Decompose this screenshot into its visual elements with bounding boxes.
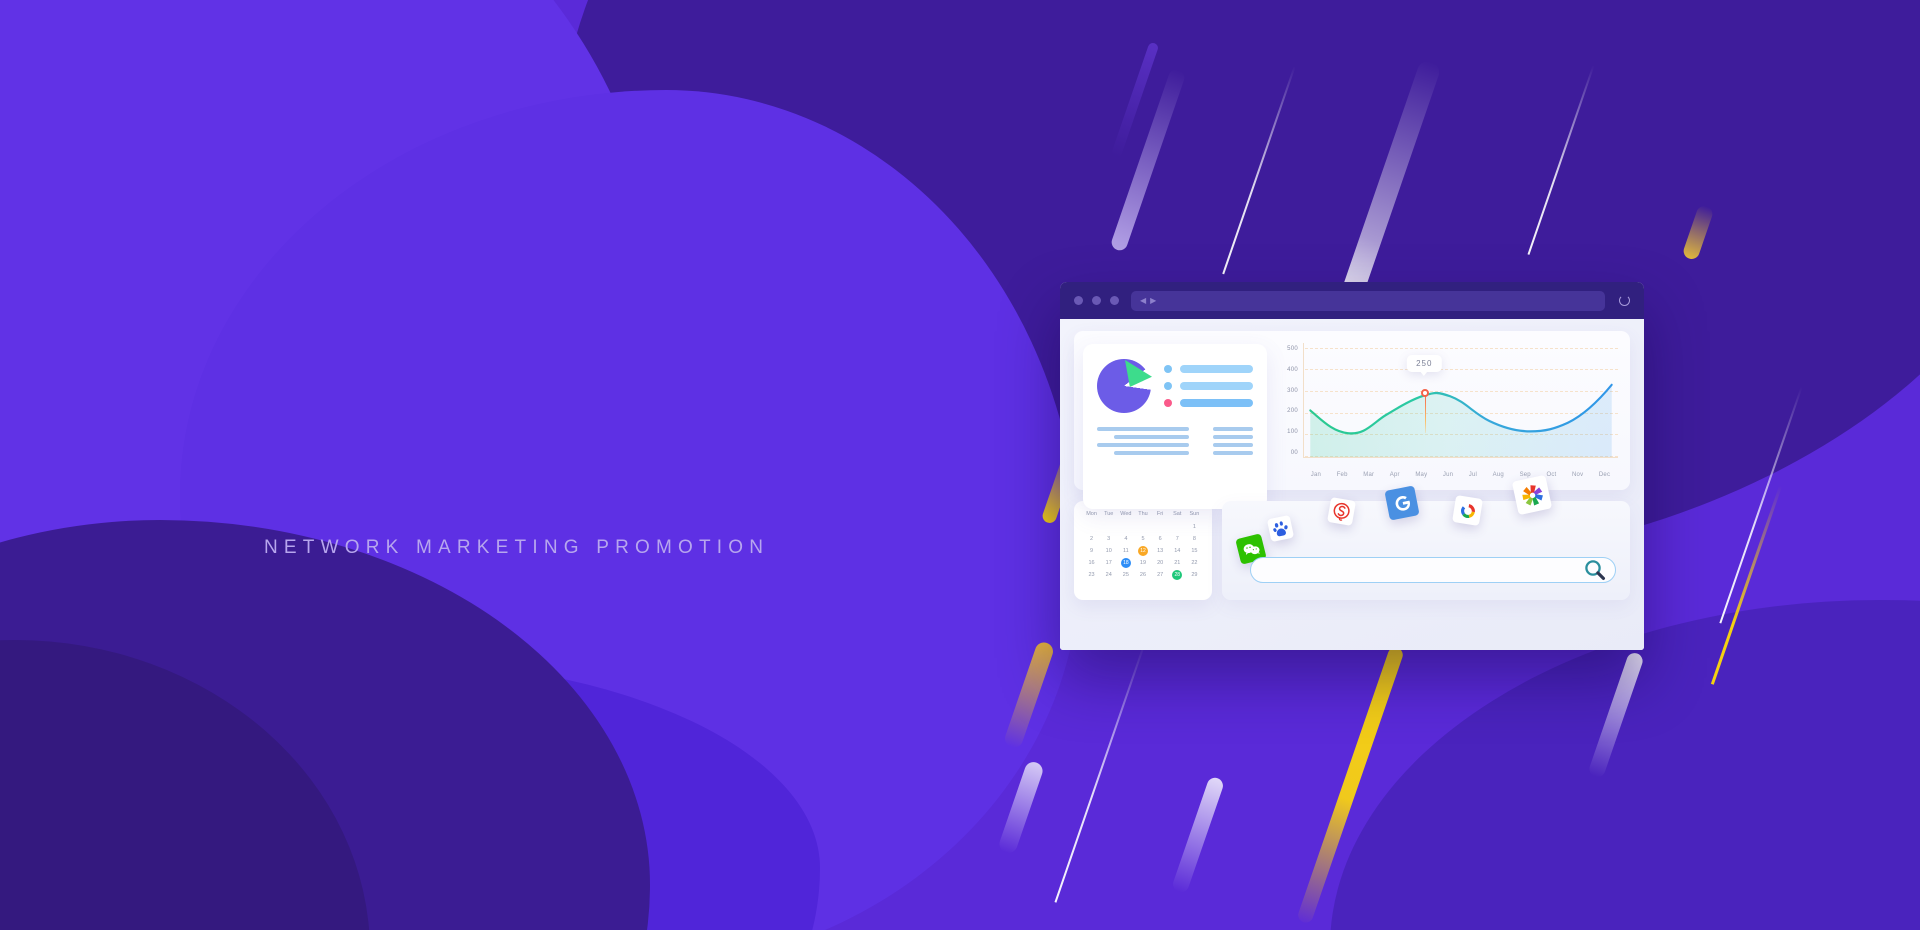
calendar-day[interactable]: 18 [1117, 558, 1134, 568]
reload-icon[interactable] [1619, 295, 1630, 306]
chart-plot [1303, 343, 1618, 458]
sogou-icon[interactable] [1327, 497, 1356, 526]
placeholder-bar [1213, 451, 1253, 455]
chart-marker-line [1425, 393, 1427, 433]
calendar-blank [1169, 522, 1186, 532]
x-tick: Nov [1572, 472, 1583, 478]
placeholder-bar [1097, 443, 1189, 447]
x-tick: Dec [1599, 472, 1610, 478]
x-tick: Mar [1363, 472, 1374, 478]
calendar-day[interactable]: 19 [1134, 558, 1151, 568]
calendar-day[interactable]: 9 [1083, 546, 1100, 556]
placeholder-bar [1213, 443, 1253, 447]
chart-area-fill [1310, 385, 1611, 457]
chart-x-axis: Jan Feb Mar Apr May Jun Jul Aug Sep Oct … [1303, 472, 1618, 478]
calendar-day[interactable]: 25 [1117, 570, 1134, 580]
x-tick: Apr [1390, 472, 1400, 478]
pie-summary-card [1083, 344, 1267, 509]
placeholder-bar [1114, 451, 1189, 455]
calendar-day[interactable]: 23 [1083, 570, 1100, 580]
pie-chart [1097, 359, 1151, 413]
x-tick: Feb [1337, 472, 1348, 478]
x-tick: Jun [1443, 472, 1453, 478]
chart-svg [1304, 343, 1618, 457]
calendar-day[interactable]: 26 [1134, 570, 1151, 580]
calendar-day[interactable]: 22 [1186, 558, 1203, 568]
magnifier-icon[interactable] [1583, 558, 1607, 582]
calendar-day[interactable]: 20 [1152, 558, 1169, 568]
placeholder-bar [1213, 427, 1253, 431]
line-chart: 500 400 300 200 100 00 [1274, 341, 1618, 482]
calendar-day[interactable]: 12 [1134, 546, 1151, 556]
chart-tooltip: 250 [1407, 355, 1441, 372]
placeholder-column-main [1097, 427, 1201, 455]
page-title: NETWORK MARKETING PROMOTION [264, 537, 769, 559]
placeholder-column-side [1213, 427, 1253, 455]
pie-main-slice [1097, 359, 1151, 413]
placeholder-bar [1213, 435, 1253, 439]
calendar-weekday: Thu [1134, 511, 1151, 520]
baidu-icon[interactable] [1267, 515, 1294, 542]
legend-item [1164, 365, 1253, 373]
chevron-left-icon[interactable]: ◀ [1140, 297, 1146, 305]
x-tick: Jan [1311, 472, 1321, 478]
y-tick: 400 [1274, 367, 1298, 373]
calendar-weekday: Fri [1152, 511, 1169, 520]
search-panel [1222, 501, 1630, 600]
close-dot-icon[interactable] [1074, 296, 1083, 305]
y-tick: 300 [1274, 388, 1298, 394]
calendar-day[interactable]: 27 [1152, 570, 1169, 580]
calendar-day[interactable]: 2 [1083, 534, 1100, 544]
browser-window: ◀ ▶ [1060, 282, 1644, 650]
poster-canvas: NETWORK MARKETING PROMOTION ◀ ▶ [0, 0, 1920, 930]
x-tick: May [1415, 472, 1427, 478]
calendar-day[interactable]: 10 [1100, 546, 1117, 556]
placeholder-bar [1097, 427, 1189, 431]
calendar-day[interactable]: 4 [1117, 534, 1134, 544]
aperture-icon[interactable] [1512, 475, 1552, 515]
chevron-right-icon[interactable]: ▶ [1150, 297, 1156, 305]
x-tick: Aug [1493, 472, 1504, 478]
calendar-weekday: Sun [1186, 511, 1203, 520]
legend-item [1164, 382, 1253, 390]
legend-item [1164, 399, 1253, 407]
address-bar[interactable]: ◀ ▶ [1131, 291, 1605, 311]
calendar-day[interactable]: 29 [1186, 570, 1203, 580]
calendar-day[interactable]: 6 [1152, 534, 1169, 544]
minimize-dot-icon[interactable] [1092, 296, 1101, 305]
pie-legend [1164, 365, 1253, 407]
calendar-day[interactable]: 16 [1083, 558, 1100, 568]
calendar-weekday: Tue [1100, 511, 1117, 520]
x-tick: Jul [1469, 472, 1477, 478]
browser-toolbar: ◀ ▶ [1060, 282, 1644, 319]
placeholder-text-block [1097, 427, 1253, 455]
dashboard-bottom-row: MonTueWedThuFriSatSun1234567891011121314… [1074, 501, 1630, 600]
legend-label-bar [1180, 382, 1253, 390]
chart-plot-wrapper: 250 Jan Feb Mar Apr May Jun Jul Aug Sep … [1303, 341, 1618, 482]
calendar-grid: MonTueWedThuFriSatSun1234567891011121314… [1083, 511, 1203, 580]
calendar-day[interactable]: 7 [1169, 534, 1186, 544]
y-tick: 00 [1274, 450, 1298, 456]
calendar-day[interactable]: 28 [1169, 570, 1186, 580]
calendar-day[interactable]: 13 [1152, 546, 1169, 556]
pie-legend-row [1097, 359, 1253, 413]
legend-dot-icon [1164, 365, 1172, 373]
calendar-weekday: Wed [1117, 511, 1134, 520]
chart-y-axis: 500 400 300 200 100 00 [1274, 341, 1298, 482]
calendar-day[interactable]: 17 [1100, 558, 1117, 568]
search-input[interactable] [1250, 557, 1616, 583]
x-tick: Oct [1546, 472, 1556, 478]
chart-marker-point[interactable] [1421, 389, 1429, 397]
calendar-blank [1100, 522, 1117, 532]
calendar-day[interactable]: 14 [1169, 546, 1186, 556]
placeholder-bar [1114, 435, 1189, 439]
decor-streak-wide-4 [1171, 776, 1225, 895]
calendar-day[interactable]: 8 [1186, 534, 1203, 544]
y-tick: 100 [1274, 429, 1298, 435]
calendar-day[interactable]: 3 [1100, 534, 1117, 544]
calendar-day[interactable]: 1 [1186, 522, 1203, 532]
browser-content: 500 400 300 200 100 00 [1060, 319, 1644, 650]
calendar-day[interactable]: 5 [1134, 534, 1151, 544]
calendar-day[interactable]: 21 [1169, 558, 1186, 568]
decor-streak-thin-3 [1054, 637, 1147, 902]
legend-label-bar [1180, 399, 1253, 407]
360-browser-icon[interactable] [1452, 495, 1483, 526]
calendar-day[interactable]: 11 [1117, 546, 1134, 556]
calendar-weekday: Sat [1169, 511, 1186, 520]
y-tick: 200 [1274, 408, 1298, 414]
calendar-day[interactable]: 15 [1186, 546, 1203, 556]
calendar-weekday: Mon [1083, 511, 1100, 520]
calendar-day[interactable]: 24 [1100, 570, 1117, 580]
calendar-blank [1083, 522, 1100, 532]
calendar-blank [1134, 522, 1151, 532]
calendar-blank [1152, 522, 1169, 532]
dashboard-top-card: 500 400 300 200 100 00 [1074, 331, 1630, 490]
google-icon[interactable] [1384, 485, 1419, 520]
legend-label-bar [1180, 365, 1253, 373]
legend-dot-icon [1164, 382, 1172, 390]
maximize-dot-icon[interactable] [1110, 296, 1119, 305]
traffic-lights [1074, 296, 1119, 305]
calendar-widget: MonTueWedThuFriSatSun1234567891011121314… [1074, 501, 1212, 600]
legend-dot-icon [1164, 399, 1172, 407]
y-tick: 500 [1274, 346, 1298, 352]
calendar-blank [1117, 522, 1134, 532]
